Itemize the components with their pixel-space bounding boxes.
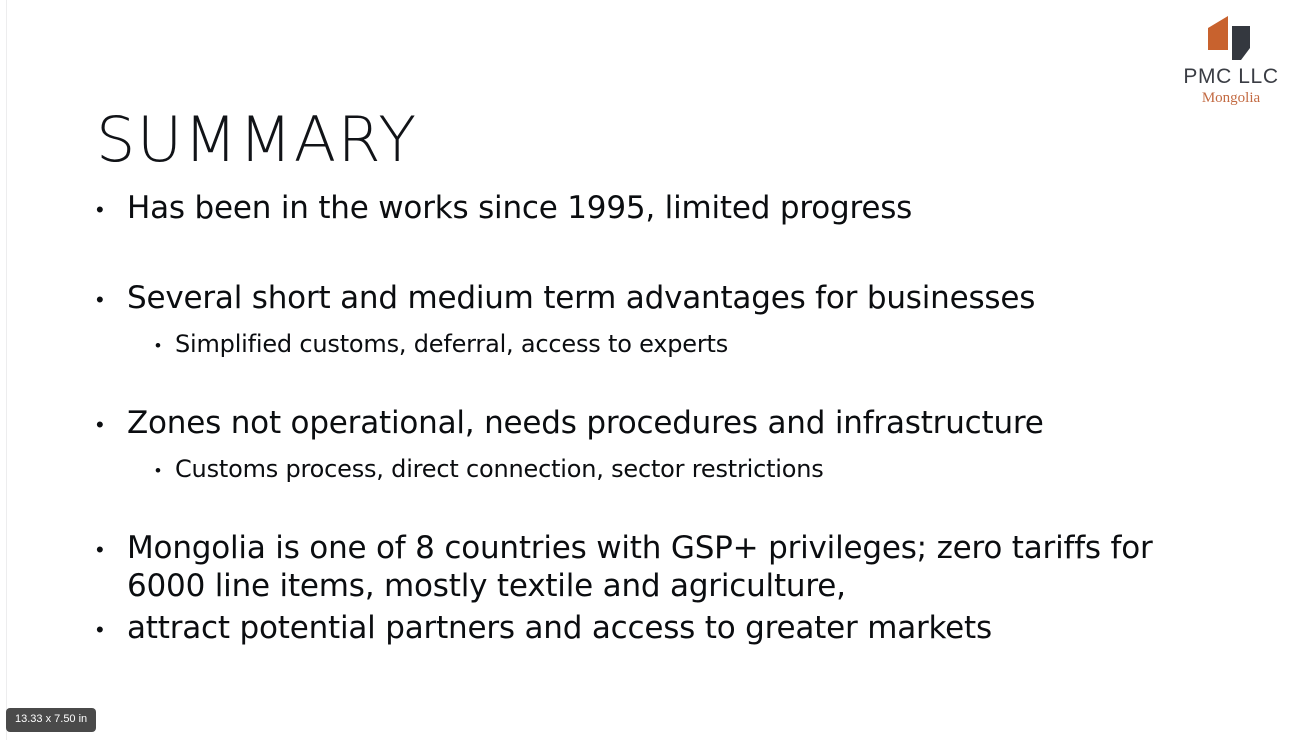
bullet-marker-icon: • bbox=[96, 405, 127, 436]
slide-body: •Has been in the works since 1995, limit… bbox=[96, 190, 1206, 651]
bullet-text: Customs process, direct connection, sect… bbox=[175, 455, 1206, 484]
bullet-marker-icon: • bbox=[155, 330, 175, 354]
bullet-text: Simplified customs, deferral, access to … bbox=[175, 330, 1206, 359]
logo-wordmark: PMC LLC bbox=[1172, 66, 1290, 88]
bullet-marker-icon: • bbox=[96, 280, 127, 311]
bullet-item-level-1: •attract potential partners and access t… bbox=[96, 610, 1206, 648]
bullet-text: attract potential partners and access to… bbox=[127, 610, 1206, 648]
bullet-marker-icon: • bbox=[155, 455, 175, 479]
bullet-text: Has been in the works since 1995, limite… bbox=[127, 190, 1206, 228]
bullet-item-level-2: •Customs process, direct connection, sec… bbox=[155, 455, 1206, 484]
slide-title: SUMMARY bbox=[96, 106, 418, 174]
pmc-logo-mark-icon bbox=[1204, 14, 1258, 62]
bullet-text: Zones not operational, needs procedures … bbox=[127, 405, 1206, 443]
slide-canvas: PMC LLC Mongolia SUMMARY •Has been in th… bbox=[0, 0, 1316, 740]
logo-subtitle: Mongolia bbox=[1172, 91, 1290, 107]
bullet-item-level-1: •Several short and medium term advantage… bbox=[96, 280, 1206, 318]
bullet-marker-icon: • bbox=[96, 530, 127, 561]
bullet-marker-icon: • bbox=[96, 610, 127, 641]
bullet-item-level-1: •Mongolia is one of 8 countries with GSP… bbox=[96, 530, 1206, 606]
bullet-item-level-1: •Zones not operational, needs procedures… bbox=[96, 405, 1206, 443]
slide-size-badge: 13.33 x 7.50 in bbox=[6, 708, 96, 732]
bullet-item-level-2: •Simplified customs, deferral, access to… bbox=[155, 330, 1206, 359]
bullet-marker-icon: • bbox=[96, 190, 127, 221]
bullet-text: Mongolia is one of 8 countries with GSP+… bbox=[127, 530, 1206, 606]
company-logo: PMC LLC Mongolia bbox=[1172, 14, 1290, 107]
bullet-text: Several short and medium term advantages… bbox=[127, 280, 1206, 318]
slide-left-edge-line bbox=[6, 0, 7, 740]
bullet-item-level-1: •Has been in the works since 1995, limit… bbox=[96, 190, 1206, 228]
